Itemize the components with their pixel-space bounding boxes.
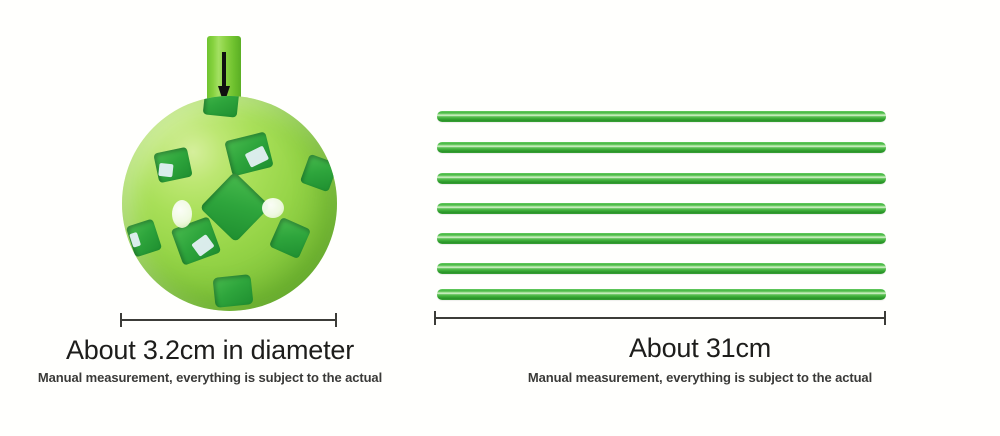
ball-hole bbox=[213, 274, 254, 308]
ball-hole bbox=[153, 147, 192, 183]
ball-highlight bbox=[172, 200, 192, 228]
ball-hole bbox=[203, 96, 240, 118]
ball-caption: About 3.2cm in diameter bbox=[0, 335, 420, 366]
sticks-measurement-bracket bbox=[434, 311, 886, 325]
stick-6 bbox=[437, 263, 886, 274]
stick-1 bbox=[437, 111, 886, 122]
sticks-subcaption: Manual measurement, everything is subjec… bbox=[420, 370, 980, 385]
ball-measurement-bracket bbox=[120, 313, 337, 327]
ball-measurement-panel: About 3.2cm in diameter Manual measureme… bbox=[0, 0, 420, 436]
ball-highlight bbox=[262, 198, 284, 218]
ball-hole bbox=[224, 131, 273, 176]
stick-5 bbox=[437, 233, 886, 244]
sticks-measurement-panel: About 31cm Manual measurement, everythin… bbox=[420, 0, 1000, 436]
stick-7 bbox=[437, 289, 886, 300]
ball-hole bbox=[126, 218, 163, 257]
stick-4 bbox=[437, 203, 886, 214]
ball-hole bbox=[269, 217, 311, 259]
sticks-caption: About 31cm bbox=[420, 333, 980, 364]
perforated-ball bbox=[122, 96, 337, 311]
ball-subcaption: Manual measurement, everything is subjec… bbox=[0, 370, 420, 385]
ball-hole bbox=[300, 154, 337, 192]
stick-2 bbox=[437, 142, 886, 153]
product-measurement-image: About 3.2cm in diameter Manual measureme… bbox=[0, 0, 1000, 436]
stick-3 bbox=[437, 173, 886, 184]
